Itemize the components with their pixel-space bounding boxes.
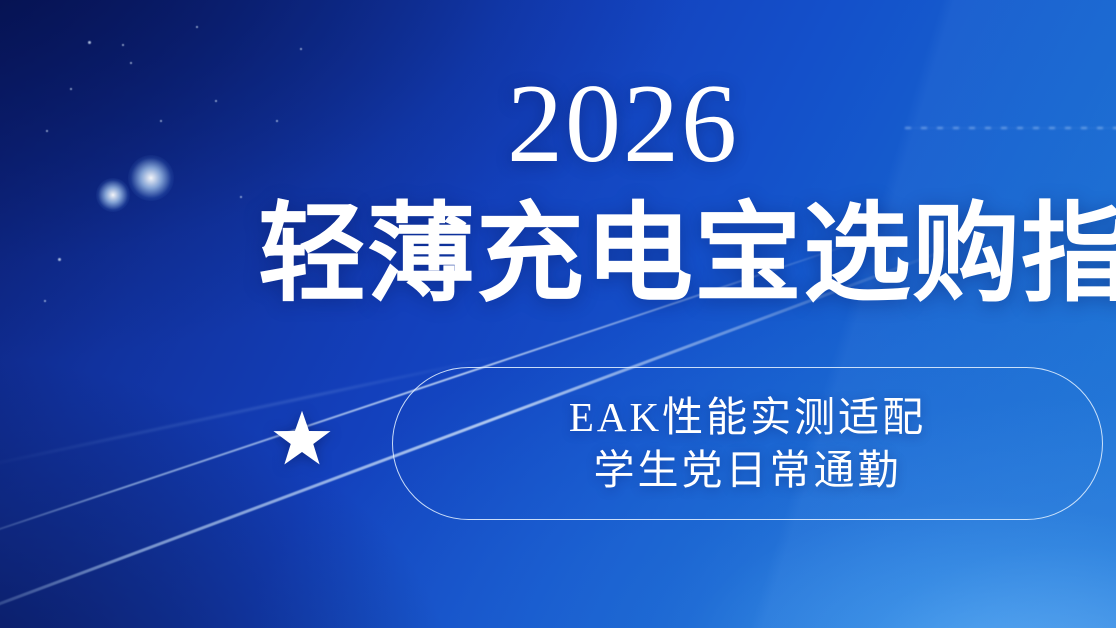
sparkle-dot xyxy=(130,62,132,64)
sparkle-dot xyxy=(88,41,91,44)
page-title: 轻薄充电宝选购指南 xyxy=(258,196,1116,317)
year-label: 2026 xyxy=(0,68,1116,180)
sparkle-dot xyxy=(300,48,302,50)
glow-particle-medium xyxy=(96,178,130,212)
sparkle-dot xyxy=(58,258,61,261)
subtitle-pill: EAK性能实测适配 学生党日常通勤 xyxy=(392,367,1103,520)
sparkle-dot xyxy=(44,300,46,302)
sparkle-dot xyxy=(196,26,198,28)
sparkle-dot xyxy=(240,196,242,198)
star-icon xyxy=(272,408,332,468)
sparkle-dot xyxy=(122,44,124,46)
subtitle-line-1: EAK性能实测适配 xyxy=(569,395,926,439)
poster-canvas: 2026 轻薄充电宝选购指南 EAK性能实测适配 学生党日常通勤 xyxy=(0,0,1116,628)
subtitle-line-2: 学生党日常通勤 xyxy=(594,448,902,492)
